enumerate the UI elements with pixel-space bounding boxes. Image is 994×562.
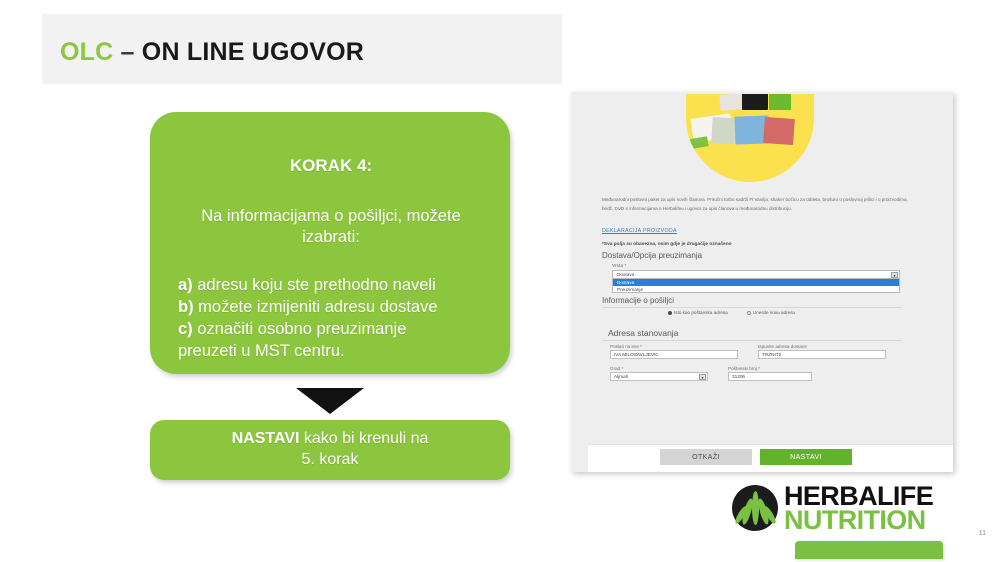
list-item-marker: b) — [178, 298, 194, 316]
radio-icon[interactable] — [747, 311, 751, 315]
list-item-text: adresu koju ste prethodno naveli — [193, 276, 436, 294]
list-item: b) možete izmijeniti adresu dostave — [178, 297, 484, 319]
title-brand: OLC — [60, 38, 113, 66]
vrsta-select-value: Dostava — [617, 272, 634, 277]
chevron-down-icon[interactable]: ▾ — [891, 272, 898, 278]
list-item: c) označiti osobno preuzimanje — [178, 319, 484, 341]
city-select[interactable]: Aljmaš ▾ — [610, 372, 708, 381]
logo-wordmark-nutrition: NUTRITION — [784, 507, 926, 534]
radio-same-address-label: Isto kao poštanska adresa — [674, 310, 728, 315]
cancel-button[interactable]: OTKAŽI — [660, 449, 752, 465]
form-content: Međunarodni poslovni paket za upis novih… — [588, 92, 943, 472]
section-shipping-title: Dostava/Opcija preuzimanja — [602, 251, 702, 260]
form-button-bar: OTKAŽI NASTAVI — [588, 444, 953, 472]
radio-new-address-label: Unesite novu adresu — [753, 310, 795, 315]
delivery-address-label: Ispunite adresa dostave — [758, 344, 807, 349]
hero-thumb — [686, 136, 709, 150]
callout-step4: KORAK 4: Na informacijama o pošiljci, mo… — [150, 112, 510, 374]
section-address-title: Adresa stanovanja — [608, 328, 678, 338]
divider — [602, 307, 902, 308]
page-number: 11 — [979, 530, 986, 537]
product-description: Međunarodni poslovni paket za upis novih… — [602, 196, 910, 214]
section-shipment-info-title: Informacije o pošiljci — [602, 296, 674, 305]
divider — [602, 340, 902, 341]
hero-thumb — [742, 94, 768, 110]
list-item-text: možete izmijeniti adresu dostave — [194, 298, 438, 316]
title-dash: – — [121, 38, 135, 66]
embedded-form-screenshot: Međunarodni poslovni paket za upis novih… — [571, 92, 953, 472]
callout-next-rest: kako bi krenuli na — [299, 430, 428, 447]
radio-same-address[interactable]: Isto kao poštanska adresa — [668, 310, 728, 315]
vrsta-option-preuzimanje[interactable]: Preuzimanje — [612, 286, 900, 293]
list-item-marker: c) — [178, 320, 193, 338]
callout-subtitle: Na informacijama o pošiljci, možete izab… — [178, 206, 484, 247]
city-select-value: Aljmaš — [614, 374, 628, 379]
hero-thumb — [719, 94, 742, 111]
continue-button[interactable]: NASTAVI — [760, 449, 852, 465]
name-input[interactable]: IVA MILOSAVLJEVIC — [610, 350, 738, 359]
name-label: Poslati na ime * — [610, 344, 642, 349]
callout-next-text: NASTAVI kako bi krenuli na 5. korak — [232, 429, 429, 471]
vrsta-label: Vrsta * — [612, 264, 626, 269]
postal-code-input[interactable]: 31206 — [728, 372, 812, 381]
city-label: Grad * — [610, 366, 623, 371]
leaf-shape — [752, 491, 759, 525]
callout-next-step: NASTAVI kako bi krenuli na 5. korak — [150, 420, 510, 480]
herbalife-leaf-icon — [732, 485, 778, 531]
callout-option-list: a) adresu koju ste prethodno naveli b) m… — [178, 275, 484, 362]
radio-new-address[interactable]: Unesite novu adresu — [747, 310, 795, 315]
radio-icon[interactable] — [668, 311, 672, 315]
list-item-text: preuzeti u MST centru. — [178, 342, 345, 360]
hero-thumb — [763, 117, 795, 145]
vrsta-option-dostava[interactable]: Dostava — [612, 279, 900, 286]
required-fields-note: *Sva polja su obavezna, osim gdje je dru… — [602, 242, 732, 247]
postal-code-label: Poštanski broj * — [728, 366, 760, 371]
arrow-down-icon — [296, 388, 364, 414]
callout-next-line2: 5. korak — [302, 451, 359, 468]
list-item: a) adresu koju ste prethodno naveli — [178, 275, 484, 297]
declaration-link[interactable]: DEKLARACIJA PROIZVODA — [602, 228, 677, 234]
decorative-green-bar — [795, 541, 943, 559]
address-choice-radio-group: Isto kao poštanska adresa Unesite novu a… — [668, 310, 908, 315]
hero-thumb — [769, 94, 791, 110]
herbalife-logo: HERBALIFE NUTRITION — [732, 483, 960, 533]
chevron-down-icon[interactable]: ▾ — [699, 374, 706, 380]
list-item-marker: a) — [178, 276, 193, 294]
slide-canvas: OLC – ON LINE UGOVOR KORAK 4: Na informa… — [0, 0, 994, 562]
vrsta-select[interactable]: Dostava ▾ — [612, 270, 900, 279]
title-text: ON LINE UGOVOR — [142, 38, 364, 66]
list-item-text: označiti osobno preuzimanje — [193, 320, 407, 338]
callout-next-bold: NASTAVI — [232, 430, 300, 447]
list-item: preuzeti u MST centru. — [178, 341, 484, 363]
delivery-address-input[interactable]: TRZNIT2 — [758, 350, 886, 359]
page-title: OLC – ON LINE UGOVOR — [60, 38, 364, 67]
callout-title: KORAK 4: — [178, 156, 484, 176]
product-hero-image — [686, 94, 814, 182]
